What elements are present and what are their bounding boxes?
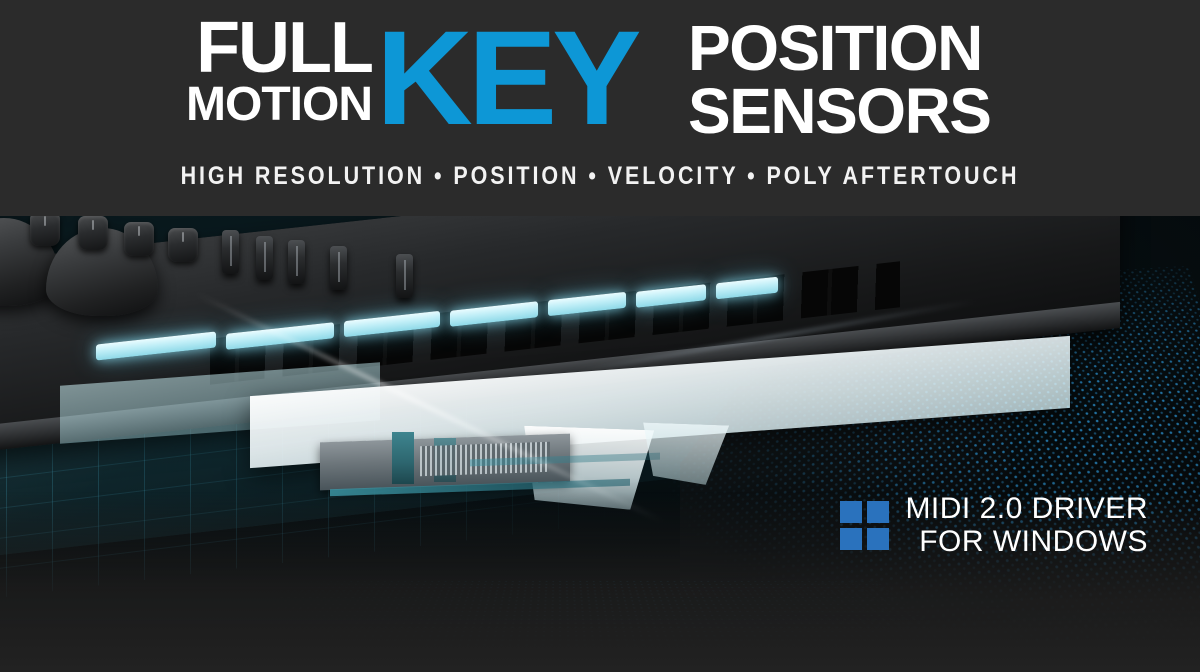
windows-logo-square: [840, 528, 862, 550]
feature-subtitle: HIGH RESOLUTION • POSITION • VELOCITY • …: [84, 162, 1116, 191]
product-banner: MIDI 2.0 DRIVER FOR WINDOWS NATURAL GRAN…: [0, 0, 1200, 672]
headline: FULL MOTION KEY POSITION SENSORS: [0, 18, 1200, 148]
headline-word-full: FULL: [186, 18, 372, 80]
key-mechanism-post: [392, 432, 414, 484]
control-fader: [222, 230, 239, 274]
windows-logo-square: [840, 501, 862, 523]
control-fader: [288, 240, 305, 284]
midi-badge-line-2: FOR WINDOWS: [905, 527, 1148, 557]
windows-logo-icon: [840, 501, 889, 550]
headline-word-key: KEY: [376, 12, 637, 146]
headline-group-left: FULL MOTION: [186, 18, 372, 128]
headline-word-motion: MOTION: [186, 82, 372, 128]
control-knob: [168, 228, 198, 262]
headline-group-right: POSITION SENSORS: [688, 18, 990, 142]
control-knob: [78, 216, 108, 250]
midi-badge-text: MIDI 2.0 DRIVER FOR WINDOWS: [905, 494, 1148, 557]
headline-word-position: POSITION: [688, 18, 990, 79]
headline-word-sensors: SENSORS: [688, 81, 990, 142]
control-knob: [124, 222, 154, 256]
control-fader: [256, 236, 273, 280]
header-band: FULL MOTION KEY POSITION SENSORS HIGH RE…: [0, 0, 1200, 216]
windows-logo-square: [867, 501, 889, 523]
hero-image: MIDI 2.0 DRIVER FOR WINDOWS NATURAL GRAN…: [0, 216, 1200, 672]
windows-logo-square: [867, 528, 889, 550]
control-knob: [30, 216, 60, 246]
control-fader: [330, 246, 347, 290]
midi-driver-badge: MIDI 2.0 DRIVER FOR WINDOWS: [840, 494, 1148, 557]
control-fader: [396, 254, 413, 298]
midi-badge-line-1: MIDI 2.0 DRIVER: [905, 494, 1148, 524]
